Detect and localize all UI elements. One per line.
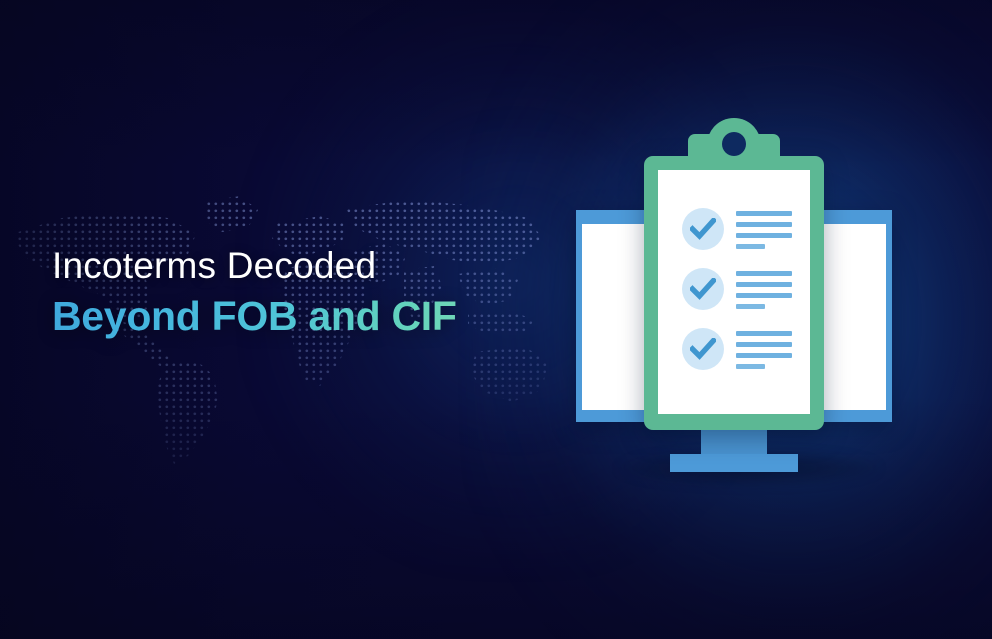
text-line xyxy=(736,282,792,287)
checklist-item-lines xyxy=(736,206,792,249)
checkmark-icon xyxy=(682,328,724,370)
text-line-short xyxy=(736,244,765,249)
checklist-item xyxy=(682,206,792,250)
checklist-item xyxy=(682,326,792,370)
text-line xyxy=(736,211,792,216)
text-line xyxy=(736,271,792,276)
clipboard-clip-hole-icon xyxy=(722,132,746,156)
text-line xyxy=(736,222,792,227)
headline-block: Incoterms Decoded Beyond FOB and CIF xyxy=(52,246,522,339)
page-title: Incoterms Decoded xyxy=(52,246,522,285)
page-subtitle: Beyond FOB and CIF xyxy=(52,295,522,338)
checklist-item-lines xyxy=(736,326,792,369)
clipboard xyxy=(644,156,824,430)
text-line xyxy=(736,293,792,298)
text-line-short xyxy=(736,364,765,369)
text-line xyxy=(736,233,792,238)
checklist xyxy=(682,206,792,370)
text-line xyxy=(736,331,792,336)
clipboard-paper xyxy=(658,170,810,414)
text-line xyxy=(736,342,792,347)
banner-canvas: Incoterms Decoded Beyond FOB and CIF xyxy=(0,0,992,639)
checklist-item-lines xyxy=(736,266,792,309)
checkmark-icon xyxy=(682,268,724,310)
monitor-stand-base xyxy=(670,454,798,472)
illustration-monitor-clipboard xyxy=(560,104,936,504)
text-line-short xyxy=(736,304,765,309)
text-line xyxy=(736,353,792,358)
checklist-item xyxy=(682,266,792,310)
checkmark-icon xyxy=(682,208,724,250)
